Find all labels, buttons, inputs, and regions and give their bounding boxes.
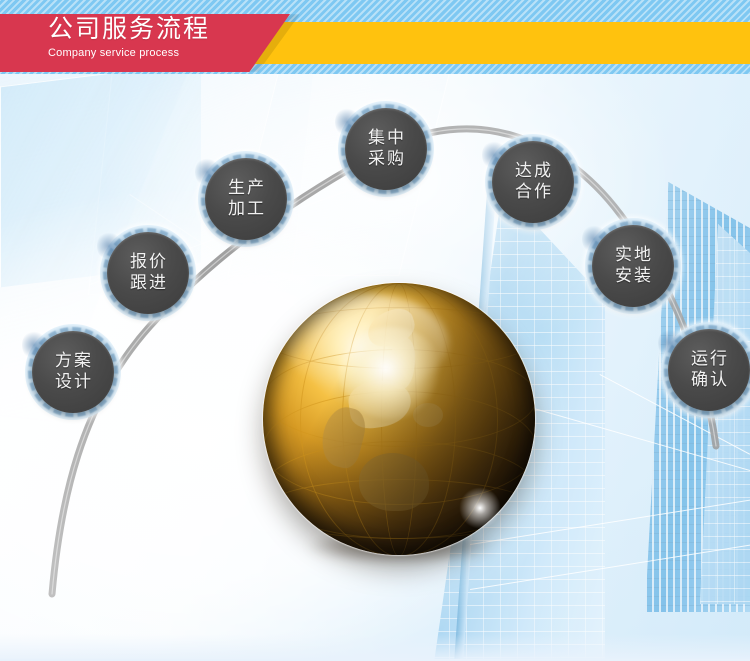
flow-node-label-line1: 方案 (53, 351, 93, 372)
flow-node-disc: 达成 合作 (492, 141, 574, 223)
flow-node-disc: 方案 设计 (32, 331, 114, 413)
flow-node-2[interactable]: 报价 跟进 (107, 232, 189, 314)
flow-node-label-line1: 达成 (513, 161, 553, 182)
flow-node-4[interactable]: 集中 采购 (345, 108, 427, 190)
flow-node-7[interactable]: 运行 确认 (668, 329, 750, 411)
flow-node-1[interactable]: 方案 设计 (32, 331, 114, 413)
header-red-banner (0, 14, 290, 72)
flow-node-label-line2: 采购 (366, 149, 406, 170)
flow-node-5[interactable]: 达成 合作 (492, 141, 574, 223)
flow-node-3[interactable]: 生产 加工 (205, 158, 287, 240)
flow-node-label-line1: 运行 (689, 349, 729, 370)
flow-node-label-line1: 报价 (128, 252, 168, 273)
flow-node-label-line2: 确认 (689, 370, 729, 391)
globe (253, 275, 543, 575)
poster-canvas: 方案 设计 报价 跟进 生产 加工 集中 采购 达成 合作 (0, 0, 750, 661)
flow-node-label-line1: 生产 (226, 178, 266, 199)
flow-node-disc: 运行 确认 (668, 329, 750, 411)
band-fade (0, 634, 750, 661)
flow-node-label-line1: 集中 (366, 128, 406, 149)
flow-node-label-line2: 加工 (226, 199, 266, 220)
flow-node-label-line2: 跟进 (128, 273, 168, 294)
flow-node-label-line2: 安装 (613, 266, 653, 287)
flow-node-label-line2: 合作 (513, 182, 553, 203)
flow-node-label-line2: 设计 (53, 372, 93, 393)
globe-sparkle (459, 487, 501, 529)
flow-node-disc: 集中 采购 (345, 108, 427, 190)
flow-node-disc: 实地 安装 (592, 225, 674, 307)
flow-node-disc: 报价 跟进 (107, 232, 189, 314)
page-header: 公司服务流程 Company service process (0, 0, 750, 74)
flow-node-6[interactable]: 实地 安装 (592, 225, 674, 307)
flow-node-label-line1: 实地 (613, 245, 653, 266)
flow-node-disc: 生产 加工 (205, 158, 287, 240)
